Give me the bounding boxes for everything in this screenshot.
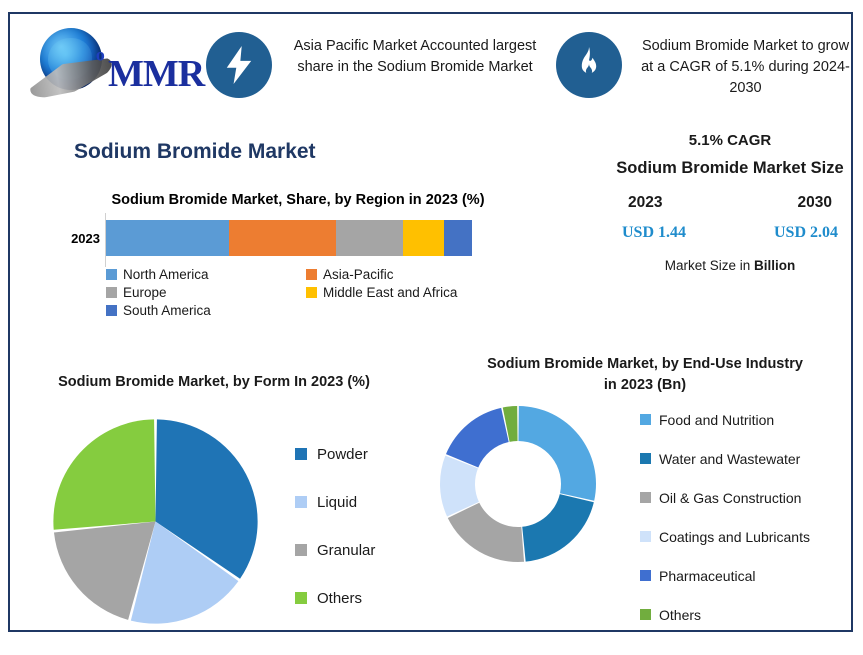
header-text-right: Sodium Bromide Market to grow at a CAGR … [638, 36, 853, 99]
legend-swatch [640, 609, 651, 620]
legend-item: Liquid [295, 478, 375, 526]
pie-slice [446, 408, 509, 468]
bar-plot-area: 2023 [70, 219, 500, 261]
legend-swatch [106, 269, 117, 280]
legend-label: Liquid [317, 494, 357, 511]
form-pie-chart: Sodium Bromide Market, by Form In 2023 (… [30, 372, 430, 655]
value-start: USD 1.44 [622, 224, 686, 242]
legend-label: Middle East and Africa [323, 285, 457, 300]
years-row: 2023 2030 [610, 194, 850, 212]
legend-label: Pharmaceutical [659, 568, 756, 584]
stacked-bar [106, 220, 472, 256]
flame-icon [556, 32, 622, 98]
legend-swatch [640, 492, 651, 503]
legend-item: Powder [295, 430, 375, 478]
legend-swatch [640, 570, 651, 581]
values-row: USD 1.44 USD 2.04 [610, 224, 850, 242]
legend-item: Water and Wastewater [640, 439, 810, 478]
mmr-logo: ₒ MMR [22, 24, 197, 102]
bar-chart-legend: North AmericaAsia-PacificEuropeMiddle Ea… [106, 267, 486, 321]
year-start: 2023 [628, 194, 662, 212]
bar-segment [336, 220, 403, 256]
legend-swatch [640, 453, 651, 464]
legend-label: Others [659, 607, 701, 623]
legend-item: Oil & Gas Construction [640, 478, 810, 517]
market-size-panel: 5.1% CAGR Sodium Bromide Market Size 202… [610, 132, 850, 273]
legend-swatch [106, 305, 117, 316]
legend-item: Pharmaceutical [640, 556, 810, 595]
legend-swatch [640, 414, 651, 425]
bar-category-label: 2023 [48, 231, 100, 246]
market-size-label: Sodium Bromide Market Size [610, 157, 850, 180]
legend-item: Coatings and Lubricants [640, 517, 810, 556]
legend-label: North America [123, 267, 209, 282]
unit-bold: Billion [754, 258, 795, 273]
cagr-value: 5.1% CAGR [610, 132, 850, 149]
legend-label: Europe [123, 285, 167, 300]
bar-segment [106, 220, 229, 256]
pie-slice [522, 494, 594, 562]
pie-chart-title: Sodium Bromide Market, by Form In 2023 (… [44, 372, 384, 393]
region-share-bar-chart: Sodium Bromide Market, Share, by Region … [70, 190, 500, 355]
legend-item: Others [640, 595, 810, 634]
header-text-left: Asia Pacific Market Accounted largest sh… [290, 36, 540, 78]
unit-note: Market Size in Billion [610, 258, 850, 273]
pie-slice [53, 419, 155, 529]
value-end: USD 2.04 [774, 224, 838, 242]
legend-item: Food and Nutrition [640, 400, 810, 439]
pie-graphic [48, 414, 263, 629]
pie-slice [448, 503, 524, 562]
legend-swatch [295, 448, 307, 460]
donut-chart-legend: Food and NutritionWater and WastewaterOi… [640, 400, 810, 634]
legend-item: Granular [295, 526, 375, 574]
donut-graphic [438, 404, 598, 564]
header: ₒ MMR Asia Pacific Market Accounted larg… [10, 14, 851, 110]
legend-label: Food and Nutrition [659, 412, 774, 428]
legend-label: Water and Wastewater [659, 451, 800, 467]
pie-slice [518, 406, 596, 501]
donut-chart-title: Sodium Bromide Market, by End-Use Indust… [480, 354, 810, 396]
end-use-donut-chart: Sodium Bromide Market, by End-Use Indust… [410, 354, 851, 655]
legend-swatch [295, 544, 307, 556]
legend-swatch [306, 287, 317, 298]
legend-swatch [106, 287, 117, 298]
unit-prefix: Market Size in [665, 258, 754, 273]
year-end: 2030 [798, 194, 832, 212]
legend-item: Middle East and Africa [306, 285, 486, 300]
legend-label: South America [123, 303, 211, 318]
page-title: Sodium Bromide Market [74, 140, 316, 164]
legend-label: Powder [317, 446, 368, 463]
legend-label: Others [317, 590, 362, 607]
logo-text: MMR [108, 52, 204, 96]
bar-segment [229, 220, 336, 256]
legend-swatch [295, 592, 307, 604]
legend-label: Granular [317, 542, 375, 559]
bar-segment [444, 220, 472, 256]
legend-item: Asia-Pacific [306, 267, 486, 282]
infographic-frame: ₒ MMR Asia Pacific Market Accounted larg… [8, 12, 853, 632]
legend-item: South America [106, 303, 306, 318]
bar-segment [403, 220, 444, 256]
lightning-bolt-icon [206, 32, 272, 98]
bar-chart-title: Sodium Bromide Market, Share, by Region … [98, 190, 498, 211]
legend-swatch [306, 269, 317, 280]
legend-item: Others [295, 574, 375, 622]
legend-swatch [295, 496, 307, 508]
legend-label: Asia-Pacific [323, 267, 394, 282]
logo-swoosh-icon: ₒ [96, 32, 105, 66]
legend-item: North America [106, 267, 306, 282]
legend-item: Europe [106, 285, 306, 300]
legend-label: Oil & Gas Construction [659, 490, 801, 506]
legend-swatch [640, 531, 651, 542]
pie-chart-legend: PowderLiquidGranularOthers [295, 430, 375, 622]
legend-label: Coatings and Lubricants [659, 529, 810, 545]
